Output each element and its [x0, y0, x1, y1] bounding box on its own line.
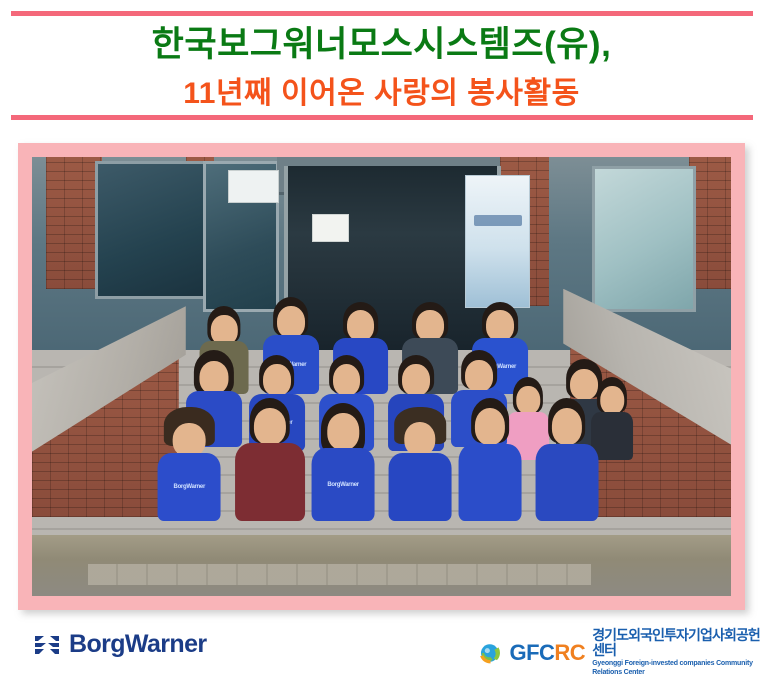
- gfcrc-acronym-orange: RC: [554, 640, 585, 665]
- brick-wall-left: [46, 157, 102, 289]
- window-right: [592, 166, 696, 312]
- gfcrc-logo: GFCRC 경기도외국인투자기업사회공헌센터 Gyeonggi Foreign-…: [477, 628, 763, 677]
- ground-pavement: [32, 535, 731, 596]
- borgwarner-butterfly-icon: [34, 634, 60, 656]
- person-front-5: [458, 398, 521, 521]
- person-front-4: [388, 407, 451, 521]
- photo-frame: BorgWarner BorgWarner: [18, 143, 745, 610]
- gfcrc-name-english: Gyeonggi Foreign-invested companies Comm…: [592, 659, 763, 677]
- gfcrc-name-korean: 경기도외국인투자기업사회공헌센터: [592, 628, 763, 658]
- gfcrc-names: 경기도외국인투자기업사회공헌센터 Gyeonggi Foreign-invest…: [592, 628, 763, 677]
- vest-brand-text: BorgWarner: [174, 484, 205, 490]
- title-line-subtitle: 11년째 이어온 사랑의 봉사활동: [0, 72, 763, 116]
- borgwarner-logo: BorgWarner: [34, 630, 207, 659]
- window-left: [95, 161, 206, 299]
- page-title: 한국보그워너모스시스템즈(유), 11년째 이어온 사랑의 봉사활동: [0, 22, 763, 116]
- header-divider-top: [11, 11, 753, 16]
- wall-banner: [465, 175, 530, 309]
- gfcrc-acronym: GFCRC: [509, 640, 585, 666]
- person-front-3: BorgWarner: [312, 403, 375, 522]
- person-front-2: [235, 398, 305, 521]
- footer-logos: BorgWarner GFCRC 경기도외국인투자기업사회공헌센터 Gyeong…: [0, 618, 763, 676]
- group-photo: BorgWarner BorgWarner: [32, 157, 731, 596]
- gfcrc-globe-icon: [477, 637, 502, 669]
- door-notice: [312, 214, 349, 242]
- gfcrc-acronym-blue: GFC: [509, 640, 554, 665]
- vest-brand-text: BorgWarner: [327, 482, 358, 488]
- person-front-1: BorgWarner: [158, 407, 221, 521]
- title-line-company: 한국보그워너모스시스템즈(유),: [0, 22, 763, 68]
- borgwarner-wordmark: BorgWarner: [69, 630, 207, 659]
- person-front-6: [535, 398, 598, 521]
- door-sign: [228, 170, 279, 203]
